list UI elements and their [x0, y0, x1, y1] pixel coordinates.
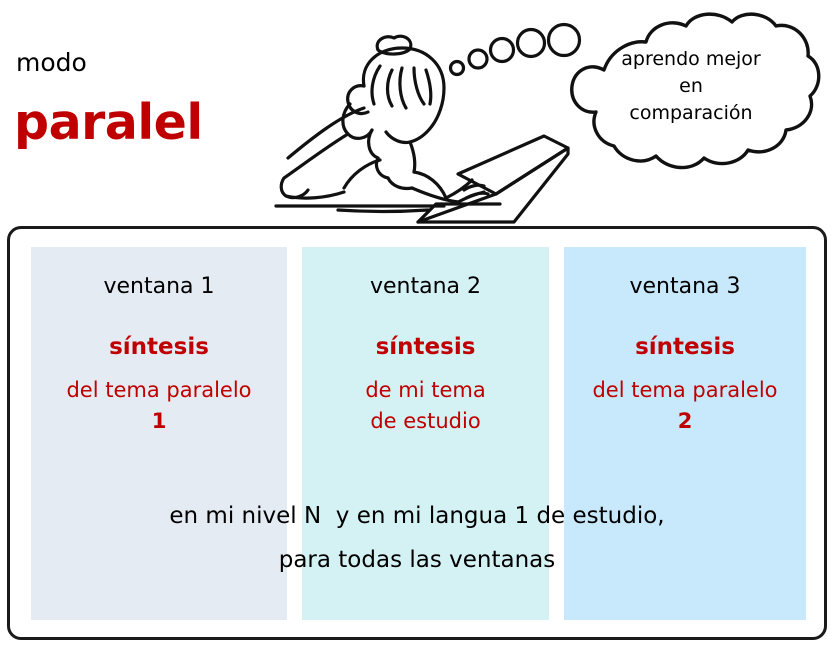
window-1-detail: del tema paralelo 1: [31, 375, 287, 437]
window-1-detail-line-1: del tema paralelo: [31, 375, 287, 406]
footer-note-line-2: para todas las ventanas: [10, 538, 824, 582]
footer-note-line-1: en mi nivel N y en mi langua 1 de estudi…: [10, 494, 824, 538]
thought-cloud-text: aprendo mejor en comparación: [596, 46, 786, 127]
windows-panel: ventana 1 síntesis del tema paralelo 1 v…: [7, 226, 827, 640]
window-2-detail-line-1: de mi tema: [302, 375, 549, 406]
window-2-label: ventana 2: [302, 273, 549, 301]
window-1-synthesis-heading: síntesis: [31, 333, 287, 361]
window-3-label: ventana 3: [564, 273, 806, 301]
footer-note: en mi nivel N y en mi langua 1 de estudi…: [10, 494, 824, 582]
window-2-detail: de mi tema de estudio: [302, 375, 549, 437]
mode-label: modo: [16, 48, 87, 78]
window-3-detail: del tema paralelo 2: [564, 375, 806, 437]
window-1-detail-line-2: 1: [31, 406, 287, 437]
window-3-synthesis-heading: síntesis: [564, 333, 806, 361]
window-1-label: ventana 1: [31, 273, 287, 301]
window-2-synthesis-heading: síntesis: [302, 333, 549, 361]
thought-cloud-line-1: aprendo mejor: [596, 46, 786, 73]
thought-cloud-line-2: en: [596, 73, 786, 100]
window-3-detail-line-2: 2: [564, 406, 806, 437]
window-2-detail-line-2: de estudio: [302, 406, 549, 437]
header-area: modo paralel: [0, 0, 834, 228]
window-3-detail-line-1: del tema paralelo: [564, 375, 806, 406]
page-title: paralel: [14, 95, 203, 151]
thought-cloud: aprendo mejor en comparación: [560, 8, 826, 172]
thought-cloud-line-3: comparación: [596, 100, 786, 127]
